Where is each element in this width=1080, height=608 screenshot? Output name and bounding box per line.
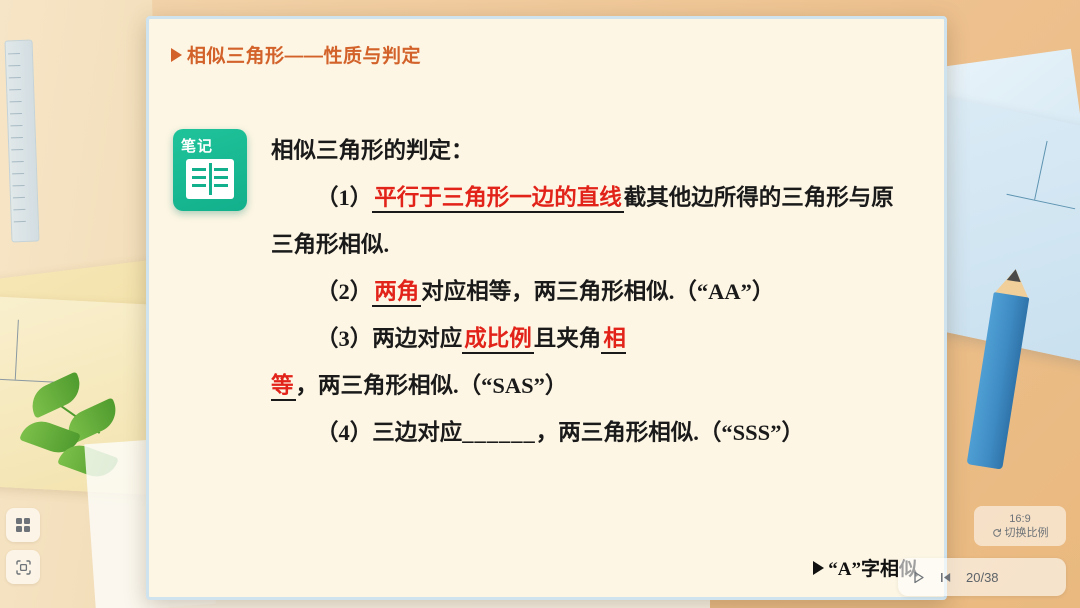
rule-item-4: （4）三边对应______，两三角形相似.（“SSS”） — [271, 409, 911, 456]
item-2-highlight: 两角 — [372, 279, 421, 307]
item-3-highlight-1: 成比例 — [462, 326, 534, 354]
slide-card: 相似三角形——性质与判定 笔记 相似三角形的判定： （1）平行于三角形一边的直线… — [146, 16, 947, 600]
refresh-icon — [992, 528, 1002, 538]
note-badge-label: 笔记 — [181, 135, 213, 156]
slide-body: 相似三角形的判定： （1）平行于三角形一边的直线截其他边所得的三角形与原三角形相… — [271, 127, 911, 456]
item-4-blank: ______ — [462, 420, 536, 445]
item-2-number: （2） — [316, 279, 372, 304]
previous-icon[interactable] — [939, 571, 952, 584]
item-3-pre: 两边对应 — [372, 326, 462, 351]
rule-item-2: （2）两角对应相等，两三角形相似.（“AA”） — [271, 268, 911, 315]
play-icon[interactable] — [912, 571, 925, 584]
grid-icon[interactable] — [6, 508, 40, 542]
item-3-mid: 且夹角 — [534, 326, 602, 351]
body-heading: 相似三角形的判定： — [271, 127, 911, 174]
page-title: 相似三角形——性质与判定 — [187, 41, 421, 68]
aspect-ratio-value: 16:9 — [1009, 512, 1030, 526]
page-indicator: 20/38 — [966, 570, 999, 585]
item-3-text: ，两三角形相似.（“SAS”） — [296, 373, 568, 398]
left-toolbar[interactable] — [6, 508, 40, 584]
item-2-text: 对应相等，两三角形相似.（“AA”） — [421, 279, 774, 304]
notebook-glyph — [186, 159, 234, 199]
item-4-pre: 三边对应 — [372, 420, 462, 445]
item-4-text: ，两三角形相似.（“SSS”） — [536, 420, 804, 445]
rule-item-3: （3）两边对应成比例且夹角相等，两三角形相似.（“SAS”） — [271, 315, 911, 409]
screen: 相似三角形——性质与判定 笔记 相似三角形的判定： （1）平行于三角形一边的直线… — [0, 0, 1080, 608]
item-1-number: （1） — [316, 185, 372, 210]
triangle-bullet-icon-footer — [813, 561, 824, 575]
slide-title: 相似三角形——性质与判定 — [171, 41, 421, 68]
screenshot-icon[interactable] — [6, 550, 40, 584]
aspect-ratio-button[interactable]: 16:9 切换比例 — [974, 506, 1066, 546]
item-4-number: （4） — [316, 420, 372, 445]
item-3-number: （3） — [316, 326, 372, 351]
triangle-bullet-icon — [171, 48, 182, 62]
notebook-icon: 笔记 — [173, 129, 247, 211]
aspect-ratio-action-label: 切换比例 — [1005, 526, 1049, 540]
rule-item-1: （1）平行于三角形一边的直线截其他边所得的三角形与原三角形相似. — [271, 174, 911, 268]
item-1-highlight: 平行于三角形一边的直线 — [372, 185, 624, 213]
player-controls[interactable]: 20/38 — [898, 558, 1066, 596]
aspect-ratio-action: 切换比例 — [992, 526, 1049, 540]
